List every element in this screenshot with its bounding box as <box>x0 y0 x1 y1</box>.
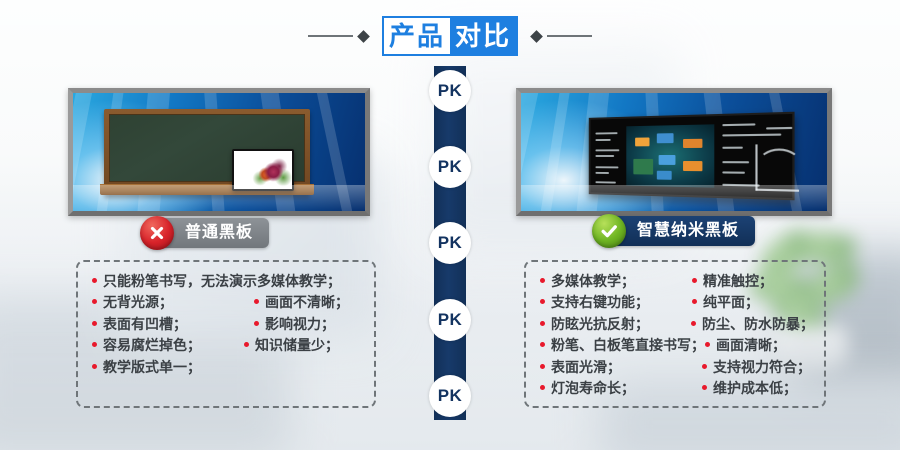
feature-text: 影响视力； <box>265 317 335 332</box>
diamond-dot-icon <box>530 30 543 43</box>
bullet-icon <box>254 321 259 326</box>
chalkboard-illustration <box>104 109 310 195</box>
title-rule-line <box>308 35 353 37</box>
bullet-icon <box>92 299 97 304</box>
feature-row: 防眩光抗反射； 防尘、防水防暴； <box>540 317 814 332</box>
bullet-icon <box>540 278 545 283</box>
feature-row: 多媒体教学； 精准触控； <box>540 274 814 289</box>
title-rule-line <box>547 35 592 37</box>
feature-item: 支持视力符合； <box>702 360 811 375</box>
feature-item: 知识储量少； <box>244 338 339 353</box>
bullet-icon <box>92 278 97 283</box>
feature-item: 防眩光抗反射； <box>540 317 691 332</box>
feature-item: 表面有凹槽； <box>92 317 244 332</box>
pk-badge: PK <box>429 146 471 188</box>
feature-text: 只能粉笔书写，无法演示多媒体教学； <box>103 274 341 289</box>
check-mark-icon <box>592 214 626 248</box>
feature-row: 无背光源； 画面不清晰； <box>92 295 364 310</box>
bullet-icon <box>705 342 710 347</box>
feature-text: 粉笔、白板笔直接书写； <box>551 338 705 353</box>
bullet-icon <box>702 364 707 369</box>
feature-item: 容易腐烂掉色； <box>92 338 244 353</box>
bullet-icon <box>692 278 697 283</box>
feature-text: 表面有凹槽； <box>103 317 187 332</box>
feature-row: 教学版式单一； <box>92 360 364 375</box>
feature-text: 知识储量少； <box>255 338 339 353</box>
title-rule-right <box>532 29 592 43</box>
feature-item: 精准触控； <box>692 274 773 289</box>
feature-text: 教学版式单一； <box>103 360 201 375</box>
left-product-label: 普通黑板 <box>159 218 269 248</box>
feature-item: 支持右键功能； <box>540 295 692 310</box>
feature-text: 表面光滑； <box>551 360 621 375</box>
right-photo-backdrop <box>521 93 827 211</box>
feature-row: 支持右键功能； 纯平面； <box>540 295 814 310</box>
bullet-icon <box>691 321 696 326</box>
monitor-screen-flowers <box>234 151 292 189</box>
feature-row: 粉笔、白板笔直接书写； 画面清晰； <box>540 338 814 353</box>
pk-badge: PK <box>429 299 471 341</box>
feature-item: 灯泡寿命长； <box>540 381 692 396</box>
feature-text: 无背光源； <box>103 295 173 310</box>
feature-text: 灯泡寿命长； <box>551 381 635 396</box>
cross-mark-icon <box>140 216 174 250</box>
bullet-icon <box>244 342 249 347</box>
feature-text: 容易腐烂掉色； <box>103 338 201 353</box>
poster-title-row: 产品 对比 <box>0 14 900 58</box>
feature-row: 只能粉笔书写，无法演示多媒体教学； <box>92 274 364 289</box>
bullet-icon <box>692 299 697 304</box>
bullet-icon <box>92 342 97 347</box>
feature-text: 多媒体教学； <box>551 274 635 289</box>
feature-item: 只能粉笔书写，无法演示多媒体教学； <box>92 274 341 289</box>
floor-reflection <box>521 185 827 211</box>
right-product-label: 智慧纳米黑板 <box>611 216 755 246</box>
diamond-dot-icon <box>357 30 370 43</box>
feature-item: 粉笔、白板笔直接书写； <box>540 338 705 353</box>
feature-item: 无背光源； <box>92 295 244 310</box>
bullet-icon <box>540 385 545 390</box>
feature-text: 防尘、防水防暴； <box>702 317 814 332</box>
page-title: 产品 对比 <box>382 16 518 56</box>
left-product-photo <box>68 88 370 216</box>
feature-text: 防眩光抗反射； <box>551 317 649 332</box>
title-rule-left <box>308 29 368 43</box>
feature-item: 多媒体教学； <box>540 274 692 289</box>
product-comparison-poster: 产品 对比 PK PK PK PK PK <box>0 0 900 450</box>
pk-badge: PK <box>429 375 471 417</box>
feature-text: 支持右键功能； <box>551 295 649 310</box>
feature-text: 维护成本低； <box>713 381 797 396</box>
feature-item: 防尘、防水防暴； <box>691 317 814 332</box>
nano-center-display <box>626 124 714 187</box>
feature-item: 画面清晰； <box>705 338 786 353</box>
left-product-feature-list: 只能粉笔书写，无法演示多媒体教学； 无背光源； 画面不清晰； 表面有凹槽； 影响… <box>76 260 376 408</box>
pk-badge: PK <box>429 70 471 112</box>
floor-reflection <box>73 185 365 211</box>
bullet-icon <box>540 364 545 369</box>
feature-item: 纯平面； <box>692 295 759 310</box>
feature-row: 表面有凹槽； 影响视力； <box>92 317 364 332</box>
feature-item: 教学版式单一； <box>92 360 201 375</box>
left-product-status: 普通黑板 <box>140 216 269 250</box>
page-title-part-one: 产品 <box>384 18 450 54</box>
bullet-icon <box>702 385 707 390</box>
bullet-icon <box>540 321 545 326</box>
feature-item: 表面光滑； <box>540 360 692 375</box>
feature-text: 支持视力符合； <box>713 360 811 375</box>
left-photo-backdrop <box>73 93 365 211</box>
bullet-icon <box>540 299 545 304</box>
feature-row: 容易腐烂掉色； 知识储量少； <box>92 338 364 353</box>
feature-item: 画面不清晰； <box>254 295 349 310</box>
bullet-icon <box>540 342 545 347</box>
feature-row: 表面光滑； 支持视力符合； <box>540 360 814 375</box>
right-product-status: 智慧纳米黑板 <box>592 214 755 248</box>
pk-badge: PK <box>429 222 471 264</box>
page-title-part-two: 对比 <box>450 18 516 54</box>
right-product-photo <box>516 88 832 216</box>
feature-row: 灯泡寿命长； 维护成本低； <box>540 381 814 396</box>
feature-text: 精准触控； <box>703 274 773 289</box>
feature-text: 纯平面； <box>703 295 759 310</box>
nano-left-writing-area <box>594 128 623 183</box>
right-product-feature-list: 多媒体教学； 精准触控； 支持右键功能； 纯平面； 防眩光抗反射； 防尘、防水防… <box>524 260 826 408</box>
bullet-icon <box>92 364 97 369</box>
feature-text: 画面不清晰； <box>265 295 349 310</box>
feature-item: 维护成本低； <box>702 381 797 396</box>
feature-item: 影响视力； <box>254 317 335 332</box>
bullet-icon <box>254 299 259 304</box>
bullet-icon <box>92 321 97 326</box>
nano-right-writing-area <box>720 121 788 192</box>
feature-text: 画面清晰； <box>716 338 786 353</box>
